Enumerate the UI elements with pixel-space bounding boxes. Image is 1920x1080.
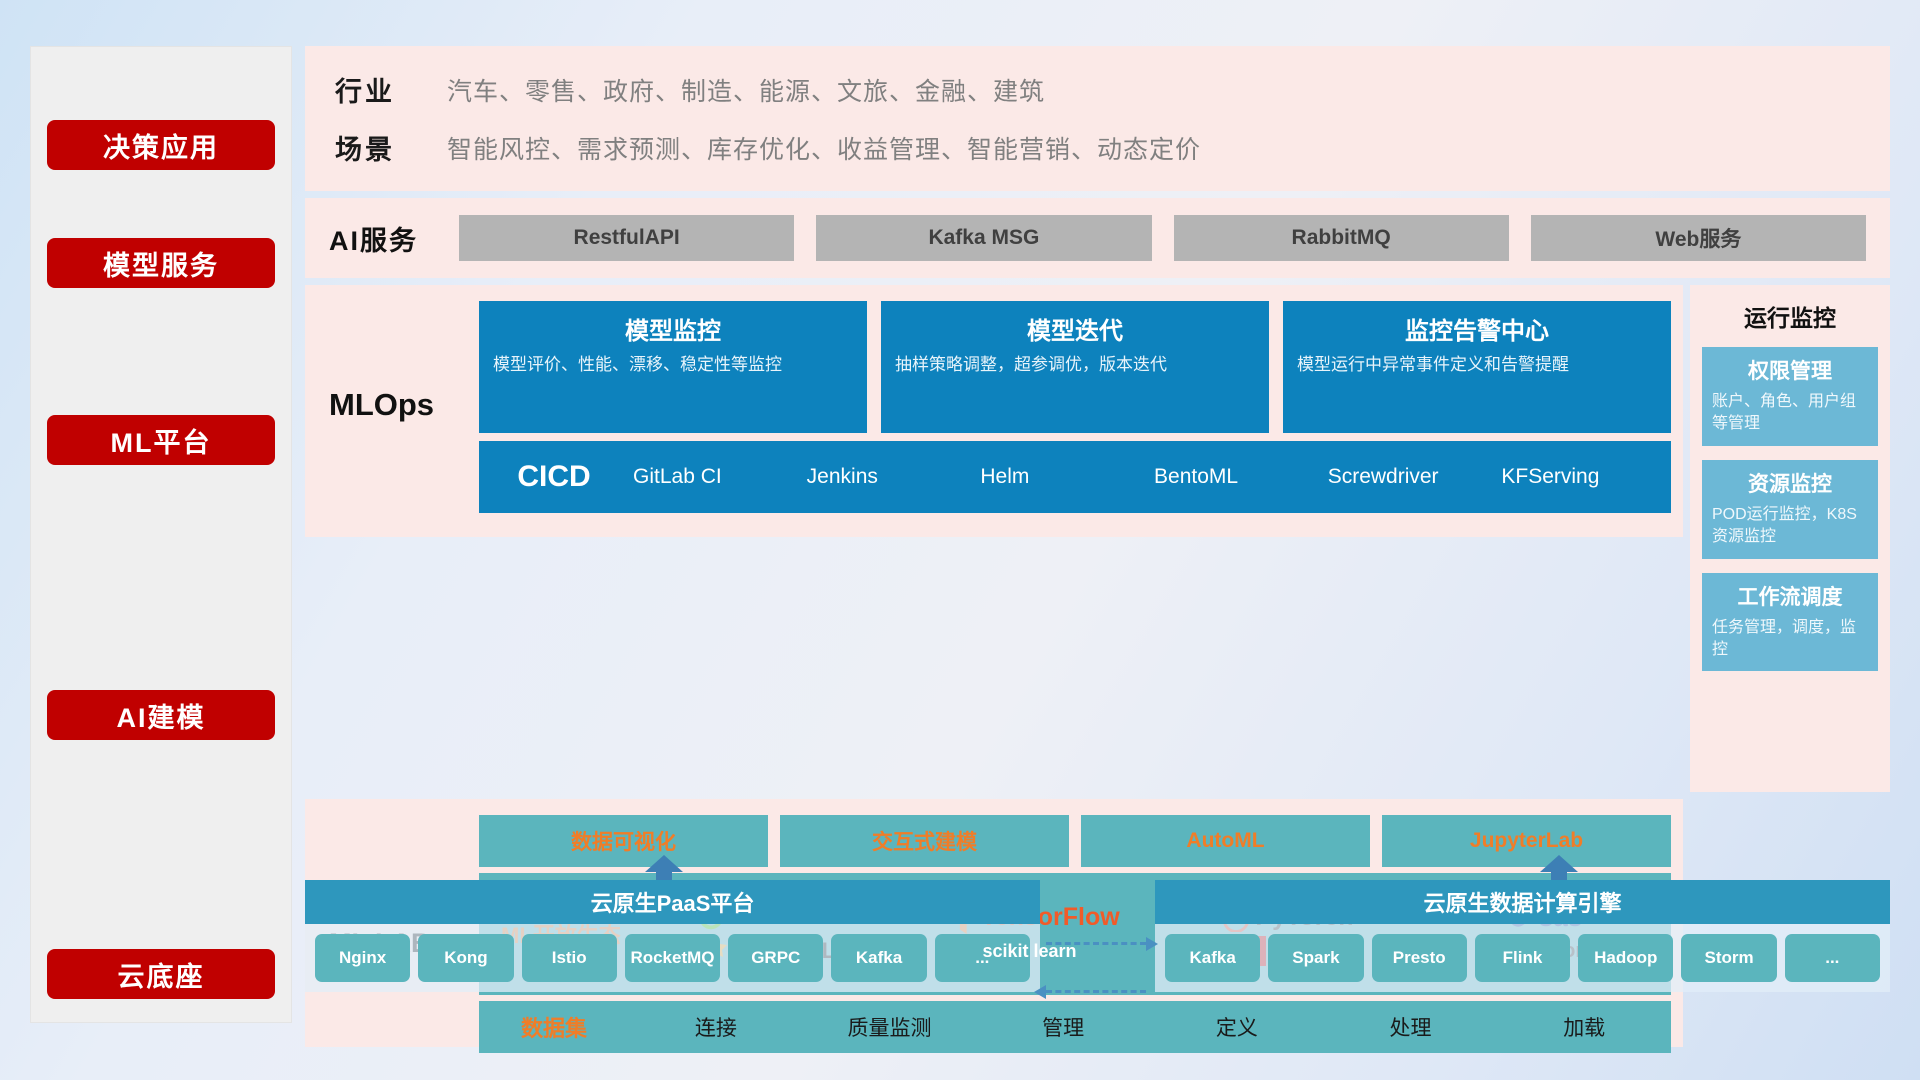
card-desc: 任务管理，调度，监控 <box>1712 617 1868 662</box>
cloud-base-row: 云原生PaaS平台 Nginx Kong Istio RocketMQ GRPC… <box>305 880 1890 1025</box>
engine-chip-flink[interactable]: Flink <box>1475 934 1570 982</box>
decision-keys: 行业 场景 <box>335 61 447 177</box>
paas-chip-nginx[interactable]: Nginx <box>315 934 410 982</box>
paas-chip-kafka[interactable]: Kafka <box>831 934 926 982</box>
industry-key: 行业 <box>335 61 447 119</box>
paas-title: 云原生PaaS平台 <box>305 880 1040 924</box>
paas-chip-istio[interactable]: Istio <box>522 934 617 982</box>
arrow-left-icon <box>1046 990 1146 993</box>
ai-service-chip-rabbitmq[interactable]: RabbitMQ <box>1174 215 1509 261</box>
paas-chip-kong[interactable]: Kong <box>418 934 513 982</box>
monitor-card-resource[interactable]: 资源监控 POD运行监控，K8S资源监控 <box>1702 460 1878 559</box>
mlops-band: MLOps 模型监控 模型评价、性能、漂移、稳定性等监控 模型迭代 抽样策略调整… <box>305 285 1683 537</box>
engine-chip-hadoop[interactable]: Hadoop <box>1578 934 1673 982</box>
mlops-card-model-monitoring[interactable]: 模型监控 模型评价、性能、漂移、稳定性等监控 <box>479 301 867 433</box>
industry-value: 汽车、零售、政府、制造、能源、文旅、金融、建筑 <box>447 61 1890 119</box>
tab-data-visualization[interactable]: 数据可视化 <box>479 815 768 867</box>
compute-engine-title: 云原生数据计算引擎 <box>1155 880 1890 924</box>
card-desc: 抽样策略调整，超参调优，版本迭代 <box>895 353 1255 378</box>
rail-item-model-service[interactable]: 模型服务 <box>47 238 275 288</box>
tab-automl[interactable]: AutoML <box>1081 815 1370 867</box>
ai-service-band: AI服务 RestfulAPI Kafka MSG RabbitMQ Web服务 <box>305 198 1890 278</box>
card-desc: 模型评价、性能、漂移、稳定性等监控 <box>493 353 853 378</box>
cicd-item-jenkins[interactable]: Jenkins <box>803 463 977 491</box>
rail-label: AI建模 <box>117 696 206 735</box>
engine-chip-more[interactable]: ... <box>1785 934 1880 982</box>
rail-item-cloud-base[interactable]: 云底座 <box>47 949 275 999</box>
decision-layer-band: 行业 场景 汽车、零售、政府、制造、能源、文旅、金融、建筑 智能风控、需求预测、… <box>305 46 1890 191</box>
cicd-item-kfserving[interactable]: KFServing <box>1497 463 1671 491</box>
cicd-item-helm[interactable]: Helm <box>976 463 1150 491</box>
scikit-learn-label: scikit learn <box>982 941 1076 962</box>
engine-chip-spark[interactable]: Spark <box>1268 934 1363 982</box>
card-desc: POD运行监控，K8S资源监控 <box>1712 504 1868 549</box>
paas-chip-grpc[interactable]: GRPC <box>728 934 823 982</box>
engine-chips: Kafka Spark Presto Flink Hadoop Storm ..… <box>1155 924 1890 992</box>
scenario-value: 智能风控、需求预测、库存优化、收益管理、智能营销、动态定价 <box>447 119 1890 177</box>
decision-values: 汽车、零售、政府、制造、能源、文旅、金融、建筑 智能风控、需求预测、库存优化、收… <box>447 61 1890 177</box>
engine-chip-presto[interactable]: Presto <box>1372 934 1467 982</box>
rail-item-ml-platform[interactable]: ML平台 <box>47 415 275 465</box>
paas-chip-rocketmq[interactable]: RocketMQ <box>625 934 720 982</box>
rail-label: 云底座 <box>118 955 205 994</box>
paas-chips: Nginx Kong Istio RocketMQ GRPC Kafka ... <box>305 924 1040 992</box>
rail-label: 模型服务 <box>103 244 219 283</box>
card-title: 监控告警中心 <box>1297 311 1657 346</box>
cicd-item-screwdriver[interactable]: Screwdriver <box>1324 463 1498 491</box>
ai-service-label: AI服务 <box>329 219 459 258</box>
card-title: 资源监控 <box>1712 468 1868 498</box>
mlops-card-alert-center[interactable]: 监控告警中心 模型运行中异常事件定义和告警提醒 <box>1283 301 1671 433</box>
engine-chip-storm[interactable]: Storm <box>1681 934 1776 982</box>
rail-item-ai-modeling[interactable]: AI建模 <box>47 690 275 740</box>
architecture-diagram: 决策应用 模型服务 ML平台 AI建模 云底座 行业 场景 汽车、零售、政府、制… <box>0 0 1920 1080</box>
monitor-card-workflow[interactable]: 工作流调度 任务管理，调度，监控 <box>1702 573 1878 672</box>
tab-interactive-modeling[interactable]: 交互式建模 <box>780 815 1069 867</box>
cicd-item-bentoml[interactable]: BentoML <box>1150 463 1324 491</box>
layer-rail: 决策应用 模型服务 ML平台 AI建模 云底座 <box>30 46 292 1023</box>
card-title: 模型迭代 <box>895 311 1255 346</box>
scenario-key: 场景 <box>335 119 447 177</box>
mlops-card-model-iteration[interactable]: 模型迭代 抽样策略调整，超参调优，版本迭代 <box>881 301 1269 433</box>
tab-jupyterlab[interactable]: JupyterLab <box>1382 815 1671 867</box>
mlops-label: MLOps <box>329 301 479 423</box>
card-title: 模型监控 <box>493 311 853 346</box>
ai-service-chip-restfulapi[interactable]: RestfulAPI <box>459 215 794 261</box>
rail-label: ML平台 <box>111 421 212 460</box>
ai-service-chips: RestfulAPI Kafka MSG RabbitMQ Web服务 <box>459 215 1866 261</box>
cicd-item-gitlab-ci[interactable]: GitLab CI <box>629 463 803 491</box>
card-desc: 模型运行中异常事件定义和告警提醒 <box>1297 353 1657 378</box>
rail-item-decision[interactable]: 决策应用 <box>47 120 275 170</box>
compute-engine-box: 云原生数据计算引擎 Kafka Spark Presto Flink Hadoo… <box>1155 880 1890 992</box>
engine-chip-kafka[interactable]: Kafka <box>1165 934 1260 982</box>
card-desc: 账户、角色、用户组等管理 <box>1712 391 1868 436</box>
cicd-label: CICD <box>479 460 629 494</box>
paas-box: 云原生PaaS平台 Nginx Kong Istio RocketMQ GRPC… <box>305 880 1040 992</box>
cicd-bar: CICD GitLab CI Jenkins Helm BentoML Scre… <box>479 441 1671 513</box>
card-title: 权限管理 <box>1712 355 1868 385</box>
ai-service-chip-kafka-msg[interactable]: Kafka MSG <box>816 215 1151 261</box>
mlops-cards: 模型监控 模型评价、性能、漂移、稳定性等监控 模型迭代 抽样策略调整，超参调优，… <box>479 301 1671 433</box>
card-title: 工作流调度 <box>1712 581 1868 611</box>
ai-service-chip-web[interactable]: Web服务 <box>1531 215 1866 261</box>
runtime-monitor-panel: 运行监控 权限管理 账户、角色、用户组等管理 资源监控 POD运行监控，K8S资… <box>1690 285 1890 792</box>
runtime-monitor-title: 运行监控 <box>1702 299 1878 333</box>
rail-label: 决策应用 <box>103 126 219 165</box>
monitor-card-permission[interactable]: 权限管理 账户、角色、用户组等管理 <box>1702 347 1878 446</box>
